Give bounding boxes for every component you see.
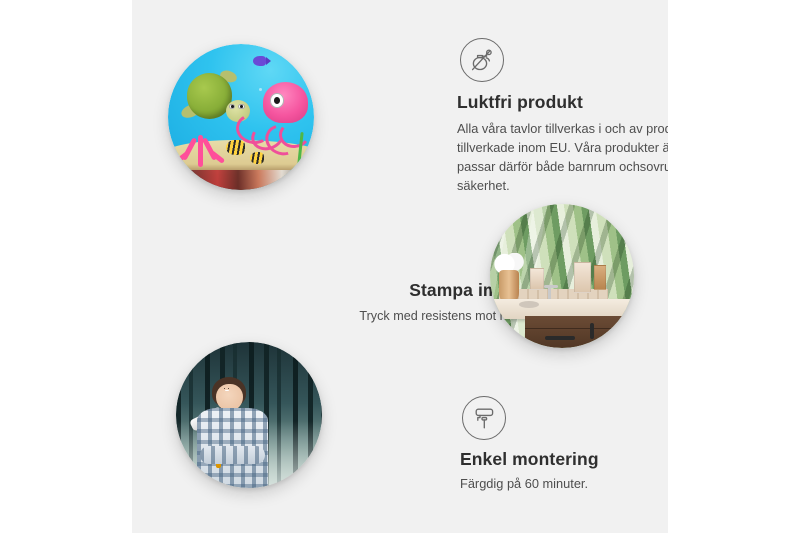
paint-roller-icon <box>462 396 506 440</box>
crossed-arms <box>200 446 264 464</box>
woman-illustration <box>194 377 279 488</box>
coral-illustration <box>180 126 221 167</box>
bathroom-accessory <box>530 268 544 290</box>
mural-room-strip <box>168 170 314 190</box>
feature-block-odourless: Luktfri produkt Alla våra tavlor tillver… <box>457 38 668 196</box>
bathroom-accessory <box>594 265 606 290</box>
feature-body-easy-install: Färgdig på 60 minuter. <box>460 475 668 494</box>
product-feature-page: Luktfri produkt Alla våra tavlor tillver… <box>0 0 800 533</box>
striped-fish-icon <box>226 140 245 155</box>
content-panel: Luktfri produkt Alla våra tavlor tillver… <box>132 0 668 533</box>
feature-title-easy-install: Enkel montering <box>460 449 668 471</box>
drawer-handle <box>545 336 575 340</box>
door-handle <box>590 323 594 339</box>
soap-dish <box>519 301 539 308</box>
small-fish-icon <box>253 56 266 66</box>
feature-image-bathroom <box>490 204 634 348</box>
feature-body-odourless: Alla våra tavlor tillverkas i och av pro… <box>457 120 668 196</box>
faucet-icon <box>548 285 551 299</box>
bathroom-accessory <box>574 262 592 293</box>
wood-vanity-cabinet <box>525 316 634 348</box>
feature-image-installer <box>176 342 322 488</box>
door-handle <box>617 323 621 339</box>
feature-block-easy-install: Enkel montering Färgdig på 60 minuter. <box>460 396 668 494</box>
striped-fish-icon <box>250 152 265 164</box>
feature-image-underwater-mural <box>168 44 314 190</box>
vase <box>499 270 519 302</box>
no-odour-spray-bottle-icon <box>460 38 504 82</box>
feature-title-odourless: Luktfri produkt <box>457 92 668 114</box>
